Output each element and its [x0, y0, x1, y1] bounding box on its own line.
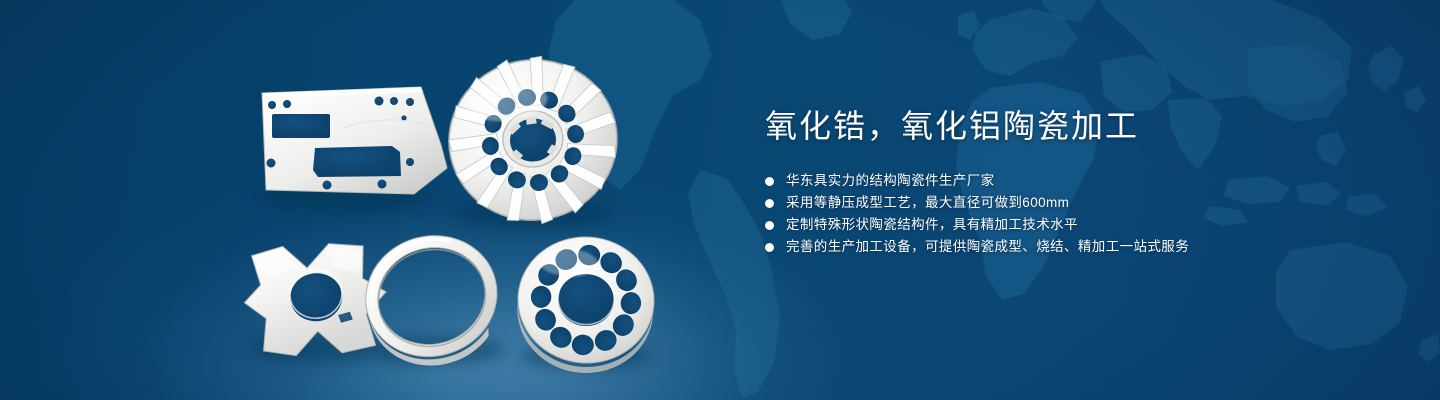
product-photo-cluster — [0, 0, 720, 400]
banner-copy: 氧化锆，氧化铝陶瓷加工 华东具实力的结构陶瓷件生产厂家 采用等静压成型工艺，最大… — [765, 104, 1385, 258]
bullet-dot-icon — [765, 199, 774, 208]
feature-text: 定制特殊形状陶瓷结构件，具有精加工技术水平 — [786, 214, 1078, 236]
bullet-dot-icon — [765, 243, 774, 252]
feature-list: 华东具实力的结构陶瓷件生产厂家 采用等静压成型工艺，最大直径可做到600mm 定… — [765, 170, 1385, 258]
ceramic-machined-plate — [262, 87, 447, 194]
feature-text: 华东具实力的结构陶瓷件生产厂家 — [786, 170, 995, 192]
bullet-dot-icon — [765, 177, 774, 186]
list-item: 华东具实力的结构陶瓷件生产厂家 — [765, 170, 1385, 192]
list-item: 完善的生产加工设备，可提供陶瓷成型、烧结、精加工一站式服务 — [765, 236, 1385, 258]
feature-text: 采用等静压成型工艺，最大直径可做到600mm — [786, 192, 1069, 214]
list-item: 定制特殊形状陶瓷结构件，具有精加工技术水平 — [765, 214, 1385, 236]
feature-text: 完善的生产加工设备，可提供陶瓷成型、烧结、精加工一站式服务 — [786, 236, 1189, 258]
hero-banner: 氧化锆，氧化铝陶瓷加工 华东具实力的结构陶瓷件生产厂家 采用等静压成型工艺，最大… — [0, 0, 1440, 400]
page-title: 氧化锆，氧化铝陶瓷加工 — [765, 104, 1385, 148]
list-item: 采用等静压成型工艺，最大直径可做到600mm — [765, 192, 1385, 214]
bullet-dot-icon — [765, 221, 774, 230]
